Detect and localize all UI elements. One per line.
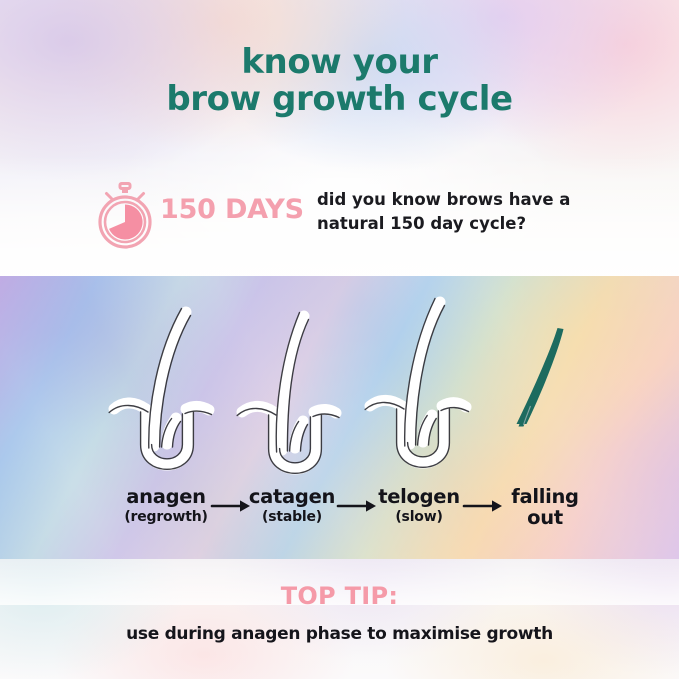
fact-copy-line-2: natural 150 day cycle? [317,212,647,236]
hair-follicle-icon [106,296,226,496]
stopwatch-icon [96,182,154,250]
fact-row: 150 DAYS did you know brows have a natur… [0,180,679,256]
stage-catagen: catagen (stable) [232,486,352,526]
top-tip-body: use during anagen phase to maximise grow… [0,624,679,644]
page-title-line-1: know your [0,44,679,81]
fact-copy-line-1: did you know brows have a [317,188,647,212]
bottom-pastel-background [0,559,679,679]
page-title: know your brow growth cycle [0,44,679,118]
hair-follicle-icon [234,304,354,504]
stage-falling-out: falling out [488,486,602,528]
brow-growth-cycle-infographic: know your brow growth cycle 150 DAYS di [0,0,679,679]
days-count-label: 150 DAYS [160,194,304,225]
fact-copy: did you know brows have a natural 150 da… [317,188,647,236]
top-tip-heading: TOP TIP: [0,582,679,610]
stage-detail: out [488,507,602,528]
cycle-stage-labels: anagen (regrowth) catagen (stable) telog… [0,482,679,552]
stage-name: falling [488,486,602,507]
stage-detail: (stable) [232,508,352,526]
stage-name: catagen [232,486,352,508]
page-title-line-2: brow growth cycle [0,81,679,118]
hair-follicle-icon [362,288,482,488]
fallen-hair-icon [500,324,610,454]
follicle-diagram [0,276,679,496]
